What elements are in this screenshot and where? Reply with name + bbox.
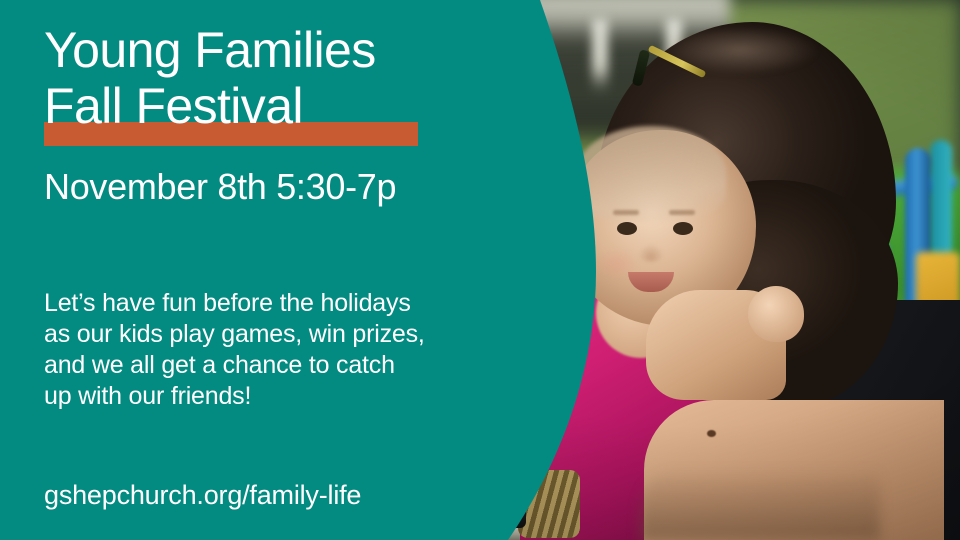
title-line-young-families: Young Families <box>44 22 464 78</box>
event-url[interactable]: gshepchurch.org/family-life <box>44 478 361 512</box>
skin-mark <box>707 430 716 437</box>
description-line: Let’s have fun before the holidays <box>44 288 464 319</box>
title-line-fall-festival: Fall Festival <box>44 78 464 134</box>
poster-title: Young Families Fall Festival <box>44 22 464 134</box>
baby-eyebrow <box>613 210 639 215</box>
baby-eyebrow <box>669 210 695 215</box>
description-line: and we all get a chance to catch <box>44 350 464 381</box>
event-promo-poster: Young Families Fall Festival November 8t… <box>0 0 960 540</box>
woman-arm-shadow <box>640 468 880 540</box>
baby-eye <box>673 222 693 235</box>
event-date-time: November 8th 5:30-7p <box>44 166 396 208</box>
poster-text-content: Young Families Fall Festival November 8t… <box>0 0 480 540</box>
woman-hair-wisps <box>630 10 860 90</box>
baby-eye <box>617 222 637 235</box>
baby-nose <box>638 244 664 262</box>
baby-hand <box>748 286 804 342</box>
event-description: Let’s have fun before the holidays as ou… <box>44 288 464 412</box>
description-line: up with our friends! <box>44 381 464 412</box>
description-line: as our kids play games, win prizes, <box>44 319 464 350</box>
